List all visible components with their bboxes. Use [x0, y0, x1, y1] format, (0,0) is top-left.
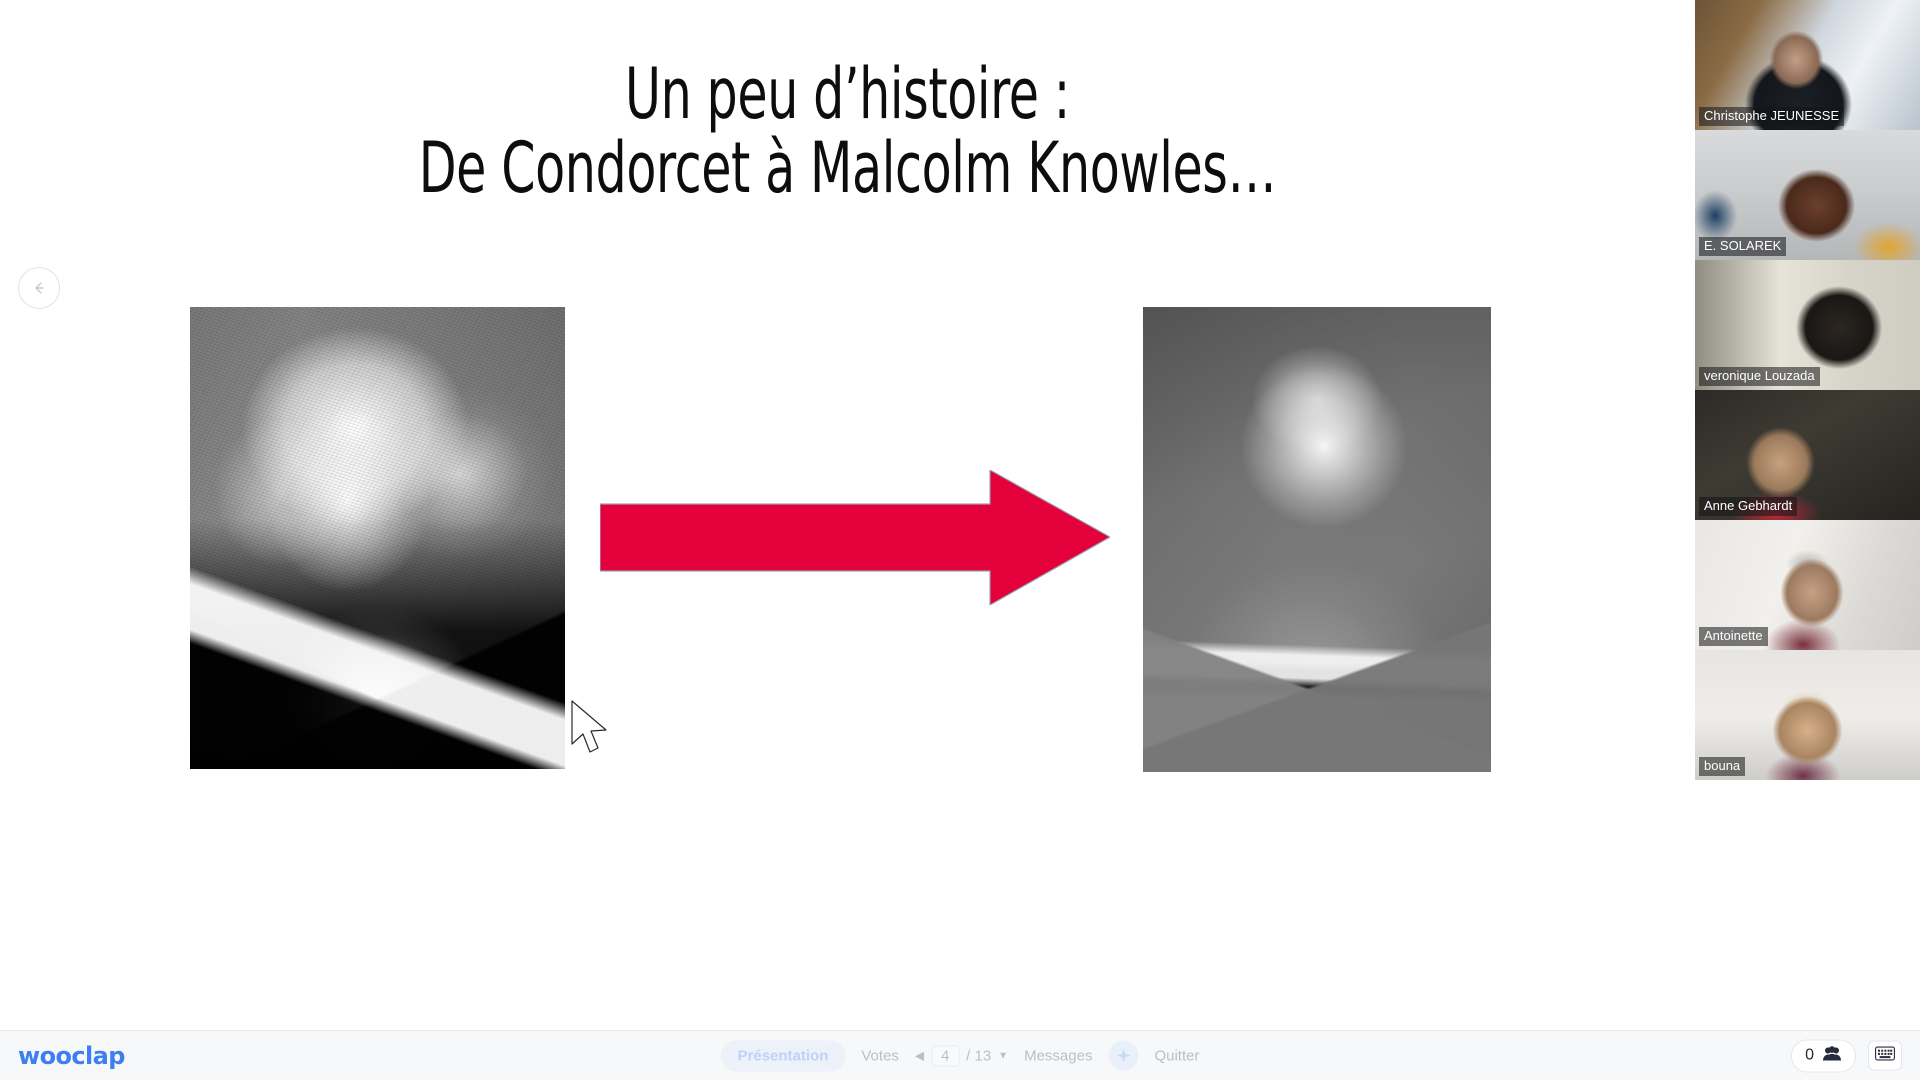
participant-video-rail: Christophe JEUNESSE E. SOLAREK veronique…	[1695, 0, 1920, 783]
video-tile-christophe-jeunesse[interactable]: Christophe JEUNESSE	[1695, 0, 1920, 130]
red-right-arrow-icon	[600, 470, 1110, 605]
toolbar-right-controls: 0	[1791, 1039, 1902, 1072]
portrait-malcolm-knowles	[1143, 307, 1491, 772]
participants-count-label: 0	[1805, 1047, 1814, 1065]
keyboard-shortcuts-button[interactable]	[1868, 1041, 1902, 1071]
participant-name-label: Anne Gebhardt	[1699, 497, 1797, 516]
participant-name-label: Antoinette	[1699, 627, 1768, 646]
participant-name-label: E. SOLAREK	[1699, 237, 1786, 256]
wooclap-presentation-screen: Un peu d’histoire : De Condorcet à Malco…	[0, 0, 1920, 1080]
title-line-2: De Condorcet à Malcolm Knowles…	[186, 132, 1508, 206]
participant-name-label: bouna	[1699, 757, 1745, 776]
wooclap-logo: wooclap	[18, 1042, 125, 1070]
tab-presentation[interactable]: Présentation	[721, 1040, 846, 1071]
video-tile-e-solarek[interactable]: E. SOLAREK	[1695, 130, 1920, 260]
back-button[interactable]	[18, 267, 60, 309]
slide-number-input[interactable]: 4	[931, 1045, 959, 1066]
participants-counter[interactable]: 0	[1791, 1039, 1856, 1072]
video-tile-veronique-louzada[interactable]: veronique Louzada	[1695, 260, 1920, 390]
slide-total-label: / 13	[966, 1047, 991, 1064]
chevron-down-icon[interactable]: ▼	[998, 1050, 1008, 1061]
slide-pager: ◀ 4 / 13 ▼	[915, 1045, 1008, 1066]
slide-stage: Un peu d’histoire : De Condorcet à Malco…	[0, 0, 1695, 1030]
chevron-left-icon[interactable]: ◀	[915, 1049, 924, 1063]
tab-messages[interactable]: Messages	[1024, 1047, 1092, 1064]
sparkle-badge-icon[interactable]	[1108, 1041, 1138, 1071]
participant-name-label: veronique Louzada	[1699, 367, 1820, 386]
participant-name-label: Christophe JEUNESSE	[1699, 107, 1844, 126]
toolbar-center-controls: Présentation Votes ◀ 4 / 13 ▼ Messages Q…	[721, 1040, 1200, 1071]
people-icon	[1822, 1045, 1842, 1066]
tab-votes[interactable]: Votes	[861, 1047, 899, 1064]
keyboard-icon	[1875, 1046, 1895, 1065]
mouse-pointer-icon	[570, 700, 612, 756]
video-tile-bouna[interactable]: bouna	[1695, 650, 1920, 780]
portrait-condorcet	[190, 307, 565, 769]
video-tile-antoinette[interactable]: Antoinette	[1695, 520, 1920, 650]
arrow-left-icon	[30, 279, 48, 297]
title-line-1: Un peu d’histoire :	[186, 58, 1508, 132]
bottom-toolbar: wooclap Présentation Votes ◀ 4 / 13 ▼ Me…	[0, 1030, 1920, 1080]
quit-button[interactable]: Quitter	[1154, 1047, 1199, 1064]
video-tile-anne-gebhardt[interactable]: Anne Gebhardt	[1695, 390, 1920, 520]
page-title: Un peu d’histoire : De Condorcet à Malco…	[186, 58, 1508, 205]
